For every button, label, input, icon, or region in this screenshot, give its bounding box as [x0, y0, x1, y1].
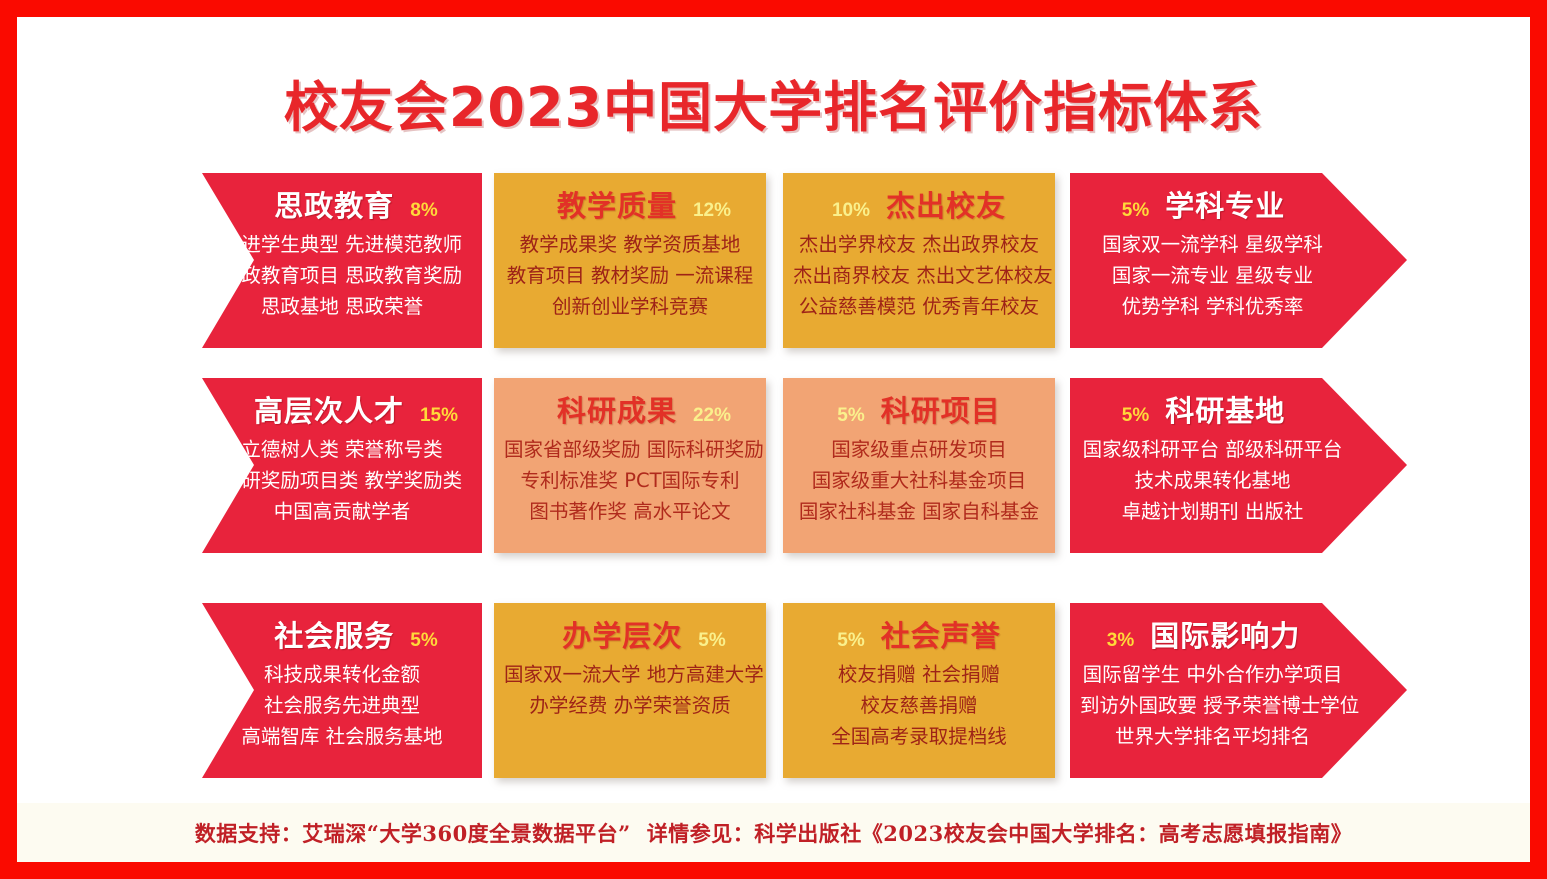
- card-indicator-line: 国家双一流学科 星级学科: [1080, 229, 1345, 260]
- card-indicator-line: 科技成果转化金额: [212, 659, 472, 690]
- indicator-row-3: 社会服务5%科技成果转化金额社会服务先进典型高端智库 社会服务基地办学层次5%国…: [17, 603, 1530, 778]
- card-indicator-line: 技术成果转化基地: [1080, 465, 1345, 496]
- card-indicator-line: 思政教育项目 思政教育奖励: [212, 260, 472, 291]
- card-heading: 思政教育8%: [202, 183, 482, 227]
- card-indicator-line: 国家级科研平台 部级科研平台: [1080, 434, 1345, 465]
- card-heading: 办学层次5%: [494, 613, 766, 657]
- indicator-grid: 思政教育8%先进学生典型 先进模范教师思政教育项目 思政教育奖励思政基地 思政荣…: [17, 160, 1530, 785]
- card-indicator-line: 全国高考录取提档线: [793, 721, 1045, 752]
- card-title: 高层次人才: [254, 388, 404, 430]
- card-heading: 教学质量12%: [494, 183, 766, 227]
- card-heading: 高层次人才15%: [202, 388, 482, 432]
- footer-details: 详情参见：科学出版社《2023校友会中国大学排名：高考志愿填报指南》: [647, 818, 1352, 848]
- card-indicator-list: 先进学生典型 先进模范教师思政教育项目 思政教育奖励思政基地 思政荣誉: [202, 229, 482, 322]
- card-indicator-line: 教育项目 教材奖励 一流课程: [504, 260, 756, 291]
- indicator-card-9[interactable]: 社会服务5%科技成果转化金额社会服务先进典型高端智库 社会服务基地: [202, 603, 482, 778]
- card-indicator-line: 公益慈善模范 优秀青年校友: [793, 291, 1045, 322]
- card-heading: 社会服务5%: [202, 613, 482, 657]
- indicator-card-6[interactable]: 科研成果22%国家省部级奖励 国际科研奖励专利标准奖 PCT国际专利图书著作奖 …: [494, 378, 766, 553]
- card-indicator-list: 教学成果奖 教学资质基地教育项目 教材奖励 一流课程创新创业学科竞赛: [494, 229, 766, 322]
- footer: 数据支持：艾瑞深“大学360度全景数据平台” 详情参见：科学出版社《2023校友…: [17, 803, 1530, 862]
- card-indicator-line: 国际留学生 中外合作办学项目: [1080, 659, 1345, 690]
- indicator-card-8[interactable]: 5%科研基地国家级科研平台 部级科研平台技术成果转化基地卓越计划期刊 出版社: [1070, 378, 1407, 553]
- card-indicator-line: 思政基地 思政荣誉: [212, 291, 472, 322]
- card-indicator-line: 世界大学排名平均排名: [1080, 721, 1345, 752]
- card-indicator-line: 专利标准奖 PCT国际专利: [504, 465, 756, 496]
- indicator-card-10[interactable]: 办学层次5%国家双一流大学 地方高建大学办学经费 办学荣誉资质: [494, 603, 766, 778]
- card-indicator-list: 杰出学界校友 杰出政界校友杰出商界校友 杰出文艺体校友公益慈善模范 优秀青年校友: [783, 229, 1055, 322]
- indicator-card-11[interactable]: 5%社会声誉校友捐赠 社会捐赠校友慈善捐赠全国高考录取提档线: [783, 603, 1055, 778]
- card-title: 思政教育: [274, 183, 394, 225]
- card-indicator-line: 到访外国政要 授予荣誉博士学位: [1080, 690, 1345, 721]
- card-indicator-list: 校友捐赠 社会捐赠校友慈善捐赠全国高考录取提档线: [783, 659, 1055, 752]
- card-indicator-list: 国家双一流学科 星级学科国家一流专业 星级专业优势学科 学科优秀率: [1070, 229, 1407, 322]
- card-indicator-line: 国家级重大社科基金项目: [793, 465, 1045, 496]
- card-indicator-line: 立德树人类 荣誉称号类: [212, 434, 472, 465]
- card-weight-percent: 5%: [698, 630, 725, 652]
- card-heading: 5%科研项目: [783, 388, 1055, 432]
- indicator-card-3[interactable]: 10%杰出校友杰出学界校友 杰出政界校友杰出商界校友 杰出文艺体校友公益慈善模范…: [783, 173, 1055, 348]
- card-weight-percent: 8%: [410, 200, 437, 222]
- card-title: 学科专业: [1165, 183, 1285, 225]
- footer-data-support: 数据支持：艾瑞深“大学360度全景数据平台”: [195, 818, 631, 848]
- card-weight-percent: 15%: [420, 405, 458, 427]
- card-indicator-line: 国家双一流大学 地方高建大学: [504, 659, 756, 690]
- card-title: 教学质量: [557, 183, 677, 225]
- card-title: 科研成果: [557, 388, 677, 430]
- card-indicator-line: 国家社科基金 国家自科基金: [793, 496, 1045, 527]
- card-weight-percent: 5%: [837, 405, 864, 427]
- card-heading: 科研成果22%: [494, 388, 766, 432]
- card-title: 办学层次: [562, 613, 682, 655]
- card-indicator-line: 校友慈善捐赠: [793, 690, 1045, 721]
- card-indicator-line: 科研奖励项目类 教学奖励类: [212, 465, 472, 496]
- indicator-card-12[interactable]: 3%国际影响力国际留学生 中外合作办学项目到访外国政要 授予荣誉博士学位世界大学…: [1070, 603, 1407, 778]
- card-heading: 5%社会声誉: [783, 613, 1055, 657]
- card-indicator-line: 教学成果奖 教学资质基地: [504, 229, 756, 260]
- card-indicator-line: 中国高贡献学者: [212, 496, 472, 527]
- card-indicator-line: 卓越计划期刊 出版社: [1080, 496, 1345, 527]
- card-indicator-line: 创新创业学科竞赛: [504, 291, 756, 322]
- card-title: 杰出校友: [886, 183, 1006, 225]
- card-indicator-line: 杰出学界校友 杰出政界校友: [793, 229, 1045, 260]
- card-indicator-line: 杰出商界校友 杰出文艺体校友: [793, 260, 1045, 291]
- indicator-card-1[interactable]: 思政教育8%先进学生典型 先进模范教师思政教育项目 思政教育奖励思政基地 思政荣…: [202, 173, 482, 348]
- card-weight-percent: 12%: [693, 200, 731, 222]
- card-indicator-line: 国家一流专业 星级专业: [1080, 260, 1345, 291]
- card-indicator-list: 国家级科研平台 部级科研平台技术成果转化基地卓越计划期刊 出版社: [1070, 434, 1407, 527]
- indicator-card-4[interactable]: 5%学科专业国家双一流学科 星级学科国家一流专业 星级专业优势学科 学科优秀率: [1070, 173, 1407, 348]
- card-heading: 10%杰出校友: [783, 183, 1055, 227]
- indicator-card-5[interactable]: 高层次人才15%立德树人类 荣誉称号类科研奖励项目类 教学奖励类中国高贡献学者: [202, 378, 482, 553]
- card-indicator-line: 国家省部级奖励 国际科研奖励: [504, 434, 756, 465]
- card-weight-percent: 10%: [832, 200, 870, 222]
- card-indicator-line: 优势学科 学科优秀率: [1080, 291, 1345, 322]
- card-heading: 5%科研基地: [1070, 388, 1407, 432]
- card-title: 科研基地: [1165, 388, 1285, 430]
- poster-frame: 校友会2023中国大学排名评价指标体系 思政教育8%先进学生典型 先进模范教师思…: [17, 17, 1530, 862]
- indicator-card-2[interactable]: 教学质量12%教学成果奖 教学资质基地教育项目 教材奖励 一流课程创新创业学科竞…: [494, 173, 766, 348]
- card-title: 国际影响力: [1150, 613, 1300, 655]
- card-title: 科研项目: [881, 388, 1001, 430]
- indicator-card-7[interactable]: 5%科研项目国家级重点研发项目国家级重大社科基金项目国家社科基金 国家自科基金: [783, 378, 1055, 553]
- card-indicator-list: 国际留学生 中外合作办学项目到访外国政要 授予荣誉博士学位世界大学排名平均排名: [1070, 659, 1407, 752]
- card-weight-percent: 5%: [410, 630, 437, 652]
- card-indicator-line: 高端智库 社会服务基地: [212, 721, 472, 752]
- page-title: 校友会2023中国大学排名评价指标体系: [17, 63, 1530, 142]
- card-indicator-list: 立德树人类 荣誉称号类科研奖励项目类 教学奖励类中国高贡献学者: [202, 434, 482, 527]
- card-weight-percent: 5%: [1122, 200, 1149, 222]
- card-indicator-list: 科技成果转化金额社会服务先进典型高端智库 社会服务基地: [202, 659, 482, 752]
- card-weight-percent: 3%: [1107, 630, 1134, 652]
- card-indicator-list: 国家省部级奖励 国际科研奖励专利标准奖 PCT国际专利图书著作奖 高水平论文: [494, 434, 766, 527]
- card-indicator-line: 校友捐赠 社会捐赠: [793, 659, 1045, 690]
- card-indicator-list: 国家双一流大学 地方高建大学办学经费 办学荣誉资质: [494, 659, 766, 721]
- card-indicator-line: 社会服务先进典型: [212, 690, 472, 721]
- indicator-row-2: 高层次人才15%立德树人类 荣誉称号类科研奖励项目类 教学奖励类中国高贡献学者科…: [17, 378, 1530, 553]
- card-title: 社会服务: [274, 613, 394, 655]
- card-indicator-line: 办学经费 办学荣誉资质: [504, 690, 756, 721]
- card-indicator-line: 先进学生典型 先进模范教师: [212, 229, 472, 260]
- card-weight-percent: 5%: [837, 630, 864, 652]
- card-weight-percent: 22%: [693, 405, 731, 427]
- card-heading: 3%国际影响力: [1070, 613, 1407, 657]
- card-title: 社会声誉: [881, 613, 1001, 655]
- indicator-row-1: 思政教育8%先进学生典型 先进模范教师思政教育项目 思政教育奖励思政基地 思政荣…: [17, 173, 1530, 348]
- card-heading: 5%学科专业: [1070, 183, 1407, 227]
- card-indicator-line: 图书著作奖 高水平论文: [504, 496, 756, 527]
- card-weight-percent: 5%: [1122, 405, 1149, 427]
- card-indicator-line: 国家级重点研发项目: [793, 434, 1045, 465]
- card-indicator-list: 国家级重点研发项目国家级重大社科基金项目国家社科基金 国家自科基金: [783, 434, 1055, 527]
